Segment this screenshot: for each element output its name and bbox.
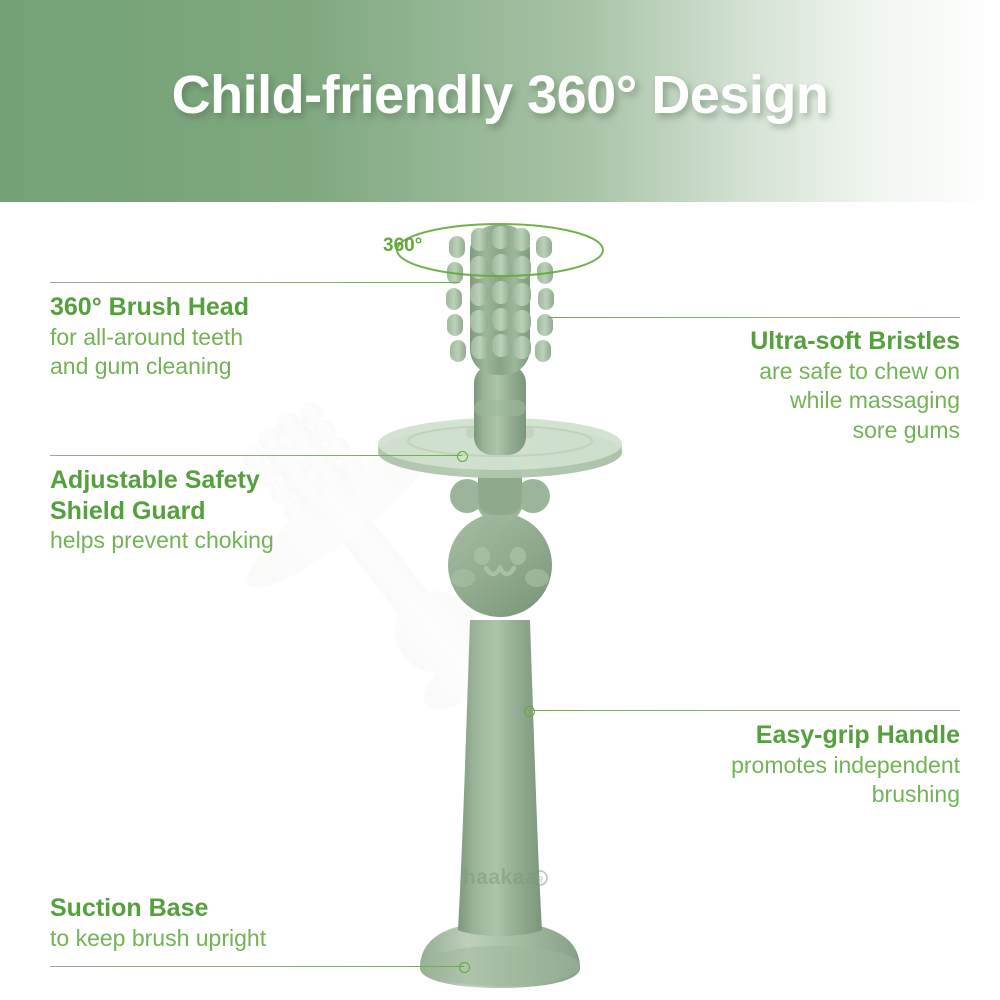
handle-shaft bbox=[458, 620, 542, 936]
connector-brush-head bbox=[50, 282, 460, 283]
callout-bristles-line-2: while massaging bbox=[620, 386, 960, 416]
callout-brush-head-line-2: and gum cleaning bbox=[50, 352, 380, 382]
infographic-canvas: Child-friendly 360° Design bbox=[0, 0, 1000, 1000]
brush-head-core bbox=[470, 225, 530, 375]
brand-emboss: haakaa R bbox=[463, 866, 547, 889]
callout-suction-base-heading: Suction Base bbox=[50, 893, 390, 924]
callout-bristles-line-1: are safe to chew on bbox=[620, 357, 960, 387]
connector-shield-guard bbox=[50, 455, 462, 456]
callout-brush-head-line-1: for all-around teeth bbox=[50, 323, 380, 353]
callout-bristles-line-3: sore gums bbox=[620, 416, 960, 446]
bristles-grid bbox=[446, 226, 554, 362]
connector-handle bbox=[528, 710, 960, 711]
suction-base-shape bbox=[420, 922, 580, 988]
svg-text:haakaa: haakaa bbox=[463, 866, 537, 889]
connector-dot-suction bbox=[459, 962, 470, 973]
callout-handle-line-2: brushing bbox=[610, 780, 960, 810]
callout-handle: Easy-grip Handle promotes independent br… bbox=[610, 720, 960, 810]
callout-bristles: Ultra-soft Bristles are safe to chew on … bbox=[620, 326, 960, 446]
callout-shield-guard: Adjustable Safety Shield Guard helps pre… bbox=[50, 465, 390, 556]
connector-bristles bbox=[548, 317, 960, 318]
callout-suction-base: Suction Base to keep brush upright bbox=[50, 893, 390, 953]
page-title: Child-friendly 360° Design bbox=[0, 64, 1000, 126]
handle-neck bbox=[478, 463, 522, 515]
callout-brush-head: 360° Brush Head for all-around teeth and… bbox=[50, 292, 380, 382]
bear-face-grip bbox=[448, 479, 552, 617]
upper-shaft bbox=[474, 365, 526, 455]
callout-brush-head-heading: 360° Brush Head bbox=[50, 292, 380, 323]
callout-shield-guard-line-1: helps prevent choking bbox=[50, 526, 390, 556]
connector-dot-handle bbox=[524, 706, 535, 717]
connector-dot-shield bbox=[457, 451, 468, 462]
header-banner: Child-friendly 360° Design bbox=[0, 0, 1000, 202]
callout-bristles-heading: Ultra-soft Bristles bbox=[620, 326, 960, 357]
callout-handle-line-1: promotes independent bbox=[610, 751, 960, 781]
rotation-label: 360° bbox=[383, 235, 422, 257]
safety-shield-disc bbox=[378, 418, 622, 478]
svg-text:R: R bbox=[537, 875, 544, 885]
rotation-ellipse bbox=[397, 224, 603, 276]
callout-suction-base-line-1: to keep brush upright bbox=[50, 924, 390, 954]
connector-suction-base bbox=[50, 966, 464, 967]
callout-shield-guard-heading-2: Shield Guard bbox=[50, 496, 390, 527]
callout-shield-guard-heading-1: Adjustable Safety bbox=[50, 465, 390, 496]
callout-handle-heading: Easy-grip Handle bbox=[610, 720, 960, 751]
